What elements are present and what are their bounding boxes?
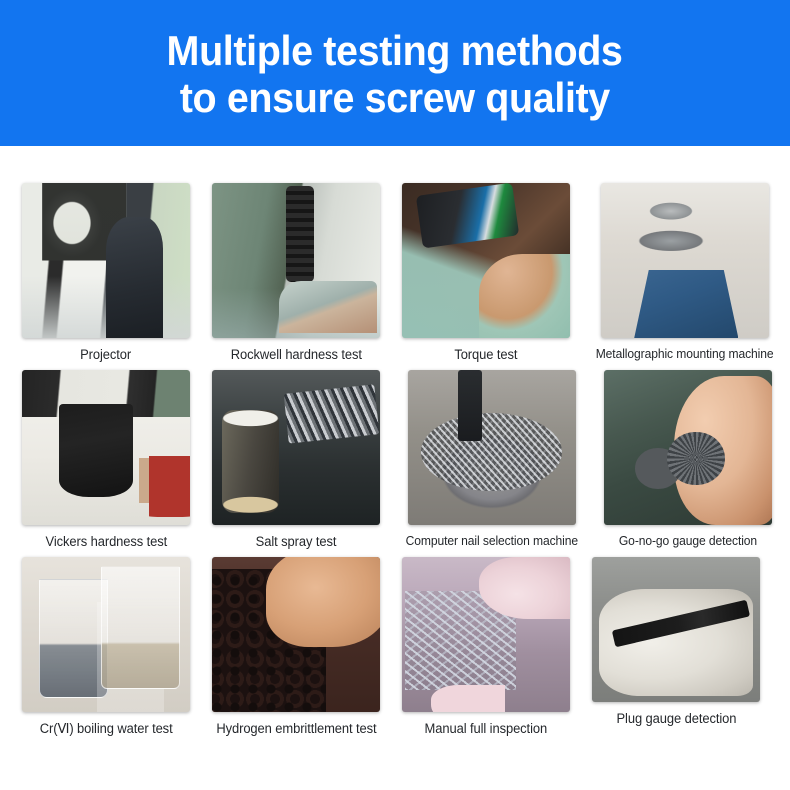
photo-plug-gauge-detection[interactable] — [592, 557, 760, 702]
photo-torque-test[interactable] — [402, 183, 570, 338]
gallery-item-plug-gauge-detection[interactable]: Plug gauge detection — [592, 557, 760, 726]
caption-crvi-boiling-water-test: Cr(Ⅵ) boiling water test — [40, 721, 173, 737]
caption-metallographic-mounting-machine: Metallographic mounting machine — [596, 347, 774, 361]
caption-projector: Projector — [81, 347, 132, 362]
gallery-item-vickers-hardness-test[interactable]: Vickers hardness test — [22, 370, 190, 549]
photo-projector[interactable] — [22, 183, 190, 338]
gallery-item-torque-test[interactable]: Torque test — [402, 183, 570, 362]
caption-manual-full-inspection: Manual full inspection — [425, 721, 548, 736]
caption-salt-spray-test: Salt spray test — [256, 534, 337, 549]
gallery-item-manual-full-inspection[interactable]: Manual full inspection — [402, 557, 570, 736]
caption-rockwell-hardness-test: Rockwell hardness test — [230, 347, 361, 362]
photo-metallographic-mounting-machine[interactable] — [601, 183, 769, 338]
photo-hydrogen-embrittlement-test[interactable] — [212, 557, 380, 712]
caption-computer-nail-selection-machine: Computer nail selection machine — [406, 534, 578, 548]
gallery-row-2: Vickers hardness test Salt spray test Co… — [0, 362, 790, 549]
photo-crvi-boiling-water-test[interactable] — [22, 557, 190, 712]
gallery-item-crvi-boiling-water-test[interactable]: Cr(Ⅵ) boiling water test — [22, 557, 190, 737]
caption-go-no-go-gauge-detection: Go-no-go gauge detection — [619, 534, 757, 548]
photo-computer-nail-selection-machine[interactable] — [408, 370, 576, 525]
gallery-item-rockwell-hardness-test[interactable]: Rockwell hardness test — [212, 183, 380, 362]
caption-plug-gauge-detection: Plug gauge detection — [616, 711, 736, 726]
gallery-item-projector[interactable]: Projector — [22, 183, 190, 362]
photo-go-no-go-gauge-detection[interactable] — [604, 370, 772, 525]
gallery-item-go-no-go-gauge-detection[interactable]: Go-no-go gauge detection — [604, 370, 772, 548]
photo-rockwell-hardness-test[interactable] — [212, 183, 380, 338]
caption-torque-test: Torque test — [454, 347, 517, 362]
gallery-item-computer-nail-selection-machine[interactable]: Computer nail selection machine — [402, 370, 582, 548]
header-banner: Multiple testing methods to ensure screw… — [0, 0, 790, 146]
header-title-line-1: Multiple testing methods — [167, 27, 623, 74]
caption-vickers-hardness-test: Vickers hardness test — [45, 534, 167, 549]
gallery-item-salt-spray-test[interactable]: Salt spray test — [212, 370, 380, 549]
page-root: Multiple testing methods to ensure screw… — [0, 0, 790, 737]
header-title-line-2: to ensure screw quality — [180, 74, 610, 121]
gallery-item-metallographic-mounting-machine[interactable]: Metallographic mounting machine — [592, 183, 777, 361]
testing-methods-gallery: Projector Rockwell hardness test Torque … — [0, 146, 790, 737]
caption-hydrogen-embrittlement-test: Hydrogen embrittlement test — [216, 721, 376, 736]
gallery-item-hydrogen-embrittlement-test[interactable]: Hydrogen embrittlement test — [212, 557, 380, 736]
photo-salt-spray-test[interactable] — [212, 370, 380, 525]
gallery-row-3: Cr(Ⅵ) boiling water test Hydrogen embrit… — [0, 549, 790, 737]
photo-manual-full-inspection[interactable] — [402, 557, 570, 712]
gallery-row-1: Projector Rockwell hardness test Torque … — [0, 146, 790, 362]
photo-vickers-hardness-test[interactable] — [22, 370, 190, 525]
